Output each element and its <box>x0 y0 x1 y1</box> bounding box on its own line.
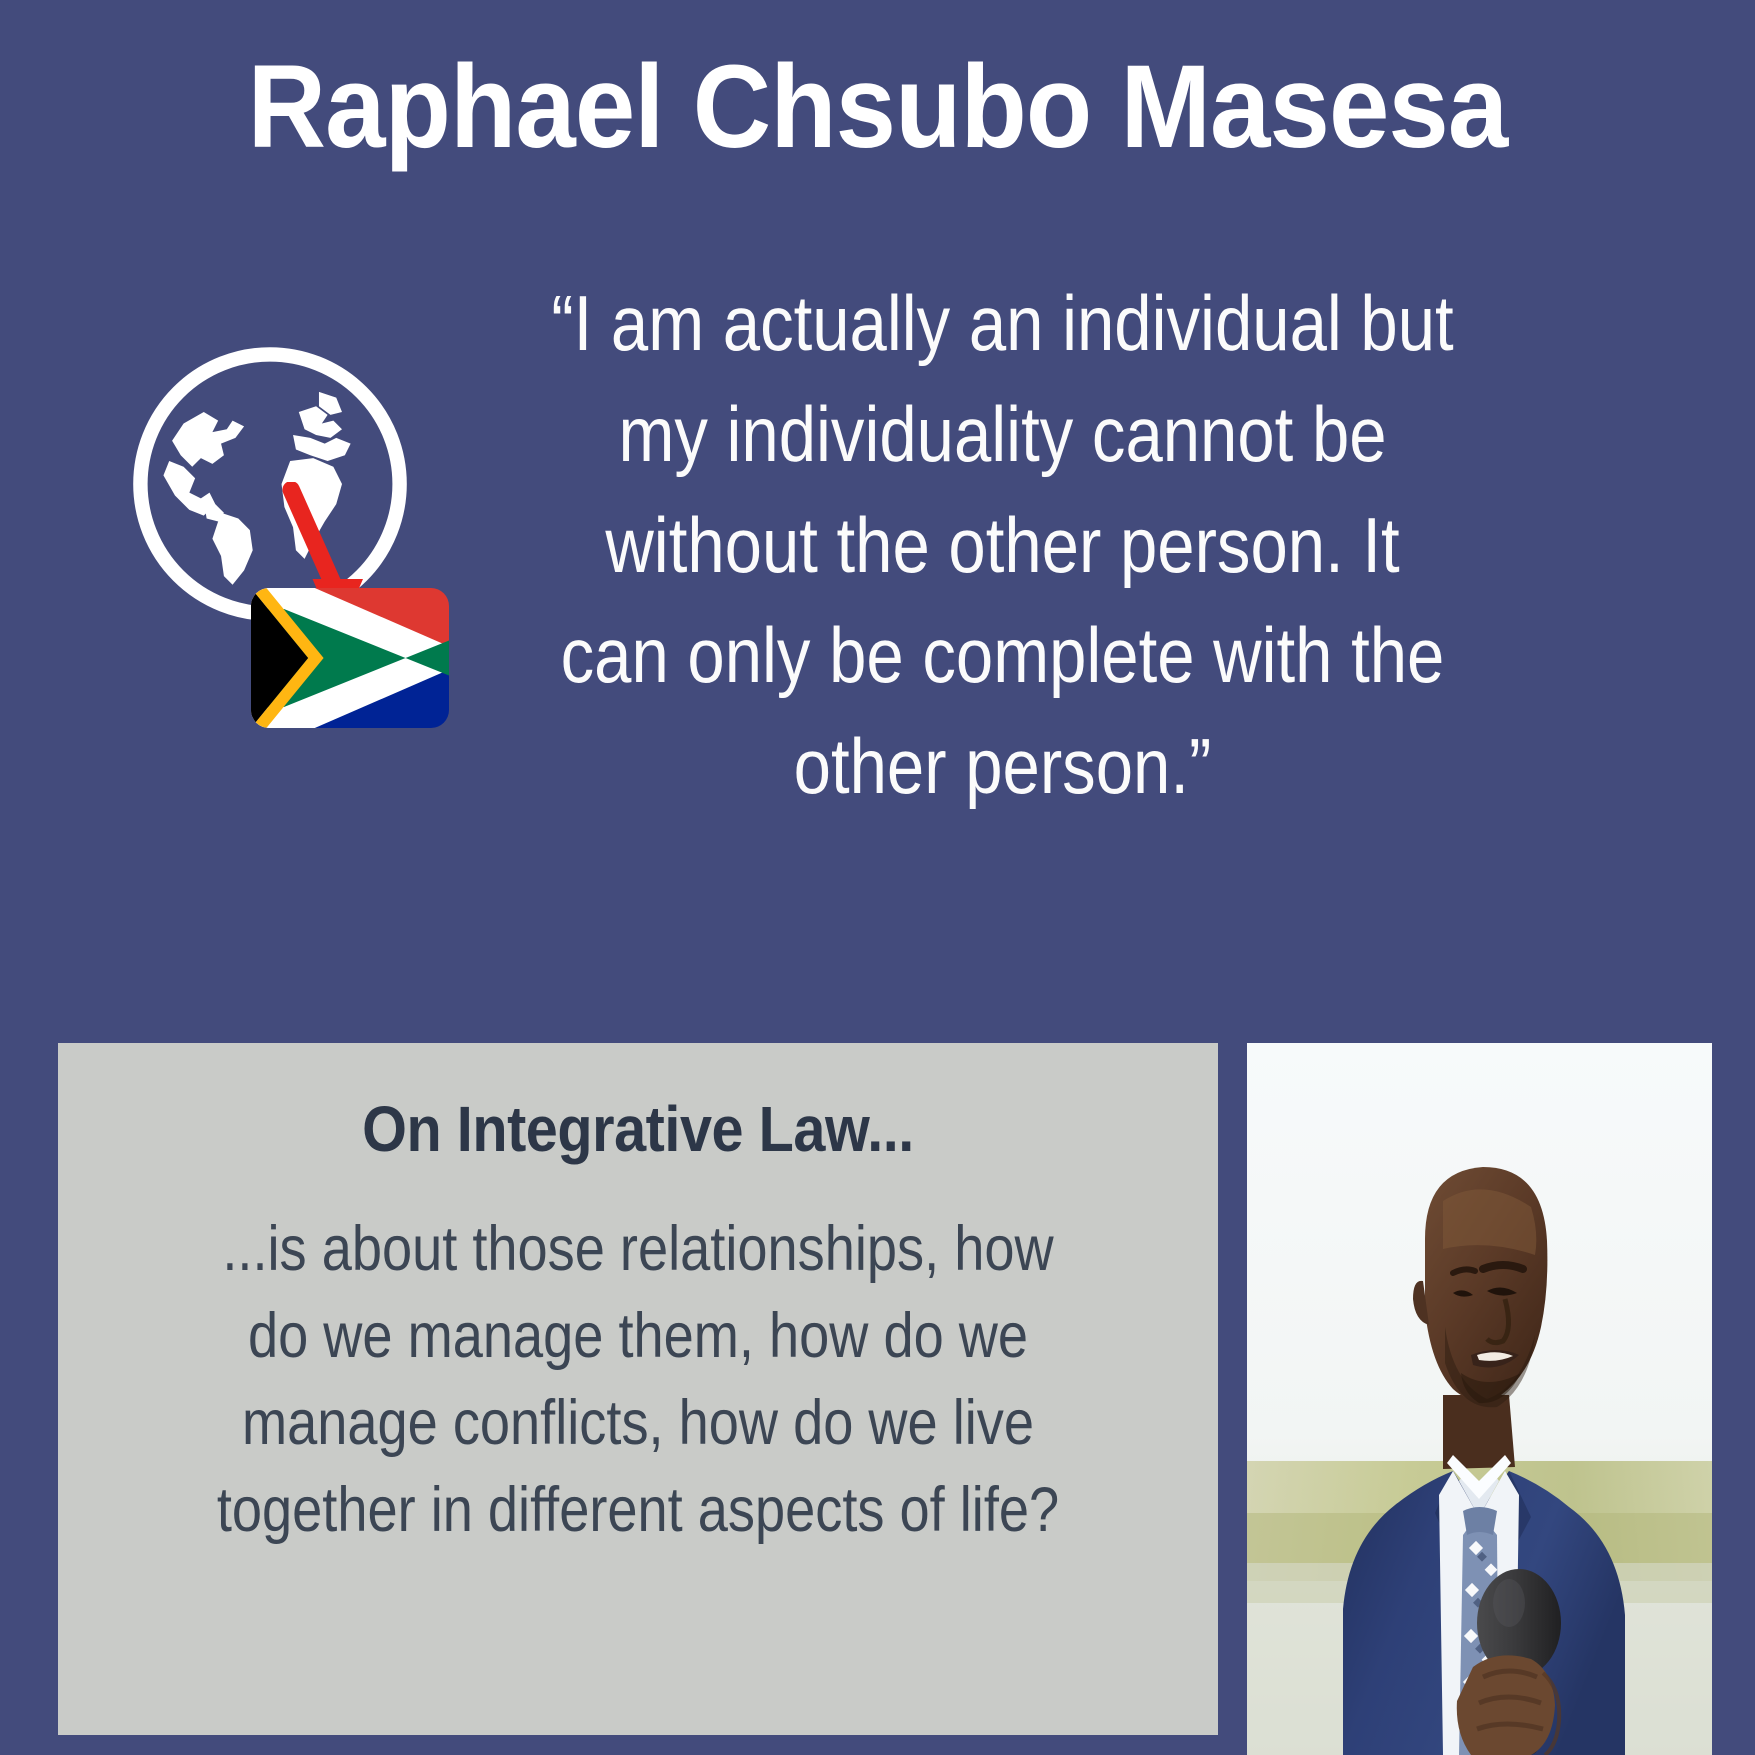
integrative-law-card: On Integrative Law... ...is about those … <box>58 1043 1218 1735</box>
pull-quote: “I am actually an individual but my indi… <box>545 268 1461 822</box>
south-africa-flag-icon <box>251 588 449 728</box>
speaker-photo <box>1247 1043 1712 1755</box>
card-heading: On Integrative Law... <box>179 1091 1097 1168</box>
origin-icon-cluster <box>118 332 478 752</box>
card-body-text: ...is about those relationships, how do … <box>199 1206 1076 1554</box>
page-title: Raphael Chsubo Masesa <box>70 40 1685 176</box>
